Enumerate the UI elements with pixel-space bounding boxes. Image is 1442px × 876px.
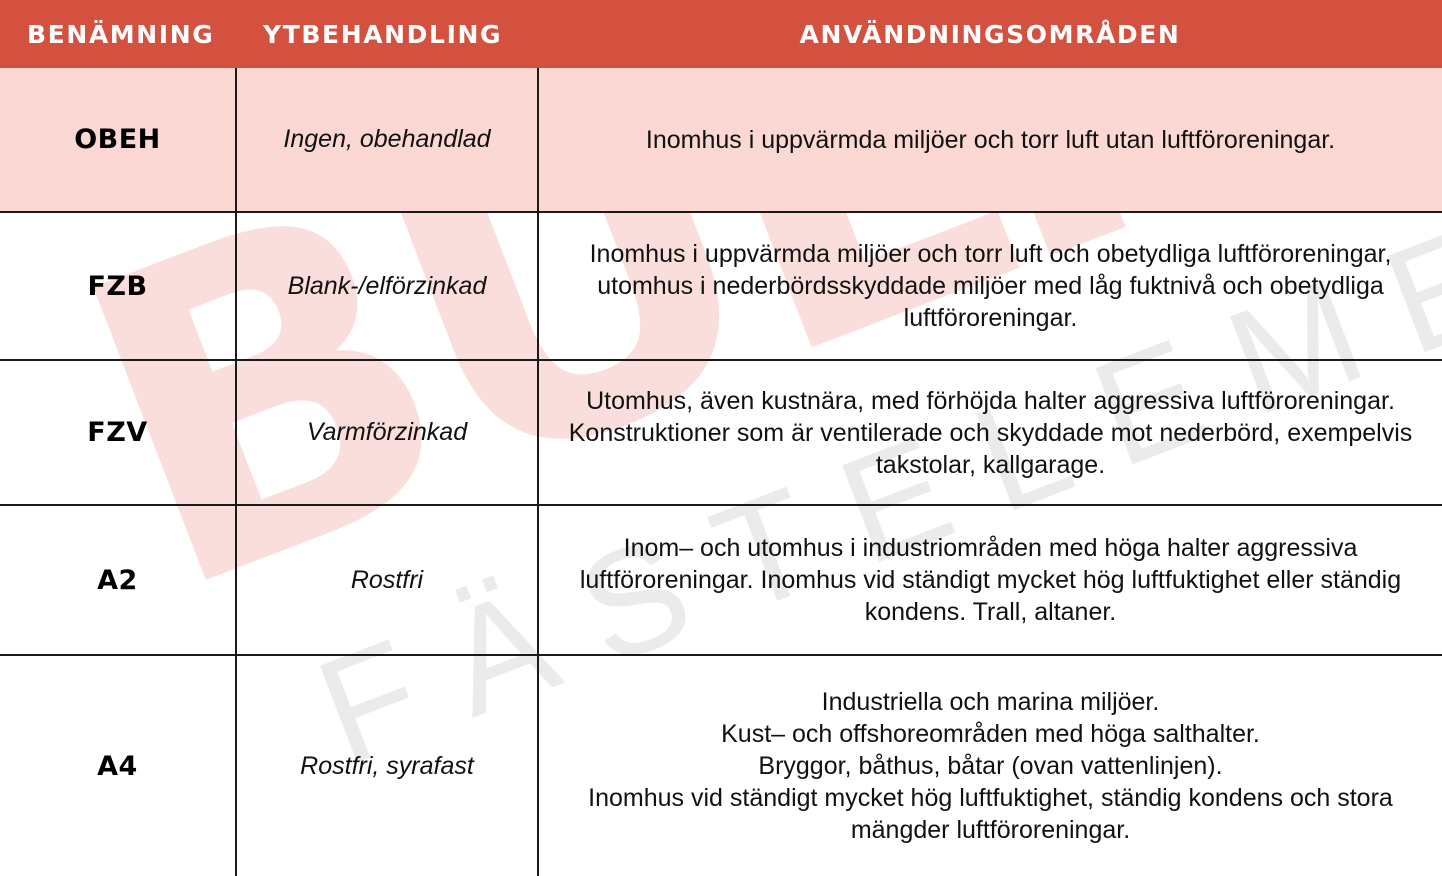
table-row: A4 Rostfri, syrafast Industriella och ma… xyxy=(0,655,1442,876)
table-row: A2 Rostfri Inom– och utomhus i industrio… xyxy=(0,505,1442,655)
table-header: BENÄMNING YTBEHANDLING ANVÄNDNINGSOMRÅDE… xyxy=(0,0,1442,68)
table-header-row: BENÄMNING YTBEHANDLING ANVÄNDNINGSOMRÅDE… xyxy=(0,0,1442,68)
cell-surface: Blank-/elförzinkad xyxy=(236,212,538,360)
surface-treatment-table-page: BULTAB FÄSTELEMENT BENÄMNING YTBEHANDLIN… xyxy=(0,0,1442,876)
cell-code: FZB xyxy=(0,212,236,360)
cell-usage: Utomhus, även kustnära, med förhöjda hal… xyxy=(538,360,1442,505)
cell-surface: Rostfri xyxy=(236,505,538,655)
column-header-ytbehandling: YTBEHANDLING xyxy=(236,0,538,68)
cell-code: A4 xyxy=(0,655,236,876)
column-header-anvandningsomraden: ANVÄNDNINGSOMRÅDEN xyxy=(538,0,1442,68)
table-row: OBEH Ingen, obehandlad Inomhus i uppvärm… xyxy=(0,68,1442,212)
cell-surface: Rostfri, syrafast xyxy=(236,655,538,876)
table-body: OBEH Ingen, obehandlad Inomhus i uppvärm… xyxy=(0,68,1442,876)
surface-treatment-table: BENÄMNING YTBEHANDLING ANVÄNDNINGSOMRÅDE… xyxy=(0,0,1442,876)
cell-usage: Inomhus i uppvärmda miljöer och torr luf… xyxy=(538,68,1442,212)
cell-code: FZV xyxy=(0,360,236,505)
table-row: FZB Blank-/elförzinkad Inomhus i uppvärm… xyxy=(0,212,1442,360)
cell-code: A2 xyxy=(0,505,236,655)
cell-usage: Inomhus i uppvärmda miljöer och torr luf… xyxy=(538,212,1442,360)
cell-surface: Ingen, obehandlad xyxy=(236,68,538,212)
column-header-benamning: BENÄMNING xyxy=(0,0,236,68)
table-row: FZV Varmförzinkad Utomhus, även kustnära… xyxy=(0,360,1442,505)
cell-code: OBEH xyxy=(0,68,236,212)
cell-surface: Varmförzinkad xyxy=(236,360,538,505)
table-container: BENÄMNING YTBEHANDLING ANVÄNDNINGSOMRÅDE… xyxy=(0,0,1442,876)
cell-usage: Inom– och utomhus i industriområden med … xyxy=(538,505,1442,655)
cell-usage: Industriella och marina miljöer.Kust– oc… xyxy=(538,655,1442,876)
